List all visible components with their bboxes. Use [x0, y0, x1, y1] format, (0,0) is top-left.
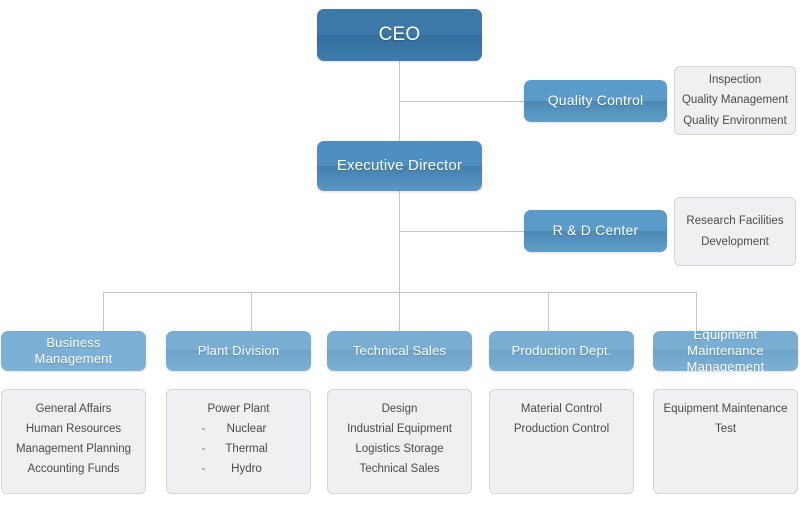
node-rd-center-label: R & D Center: [553, 222, 639, 240]
connector-exec-to-divisions: [399, 191, 400, 293]
panel-equipment-maintenance-management: Equipment Maintenance Test: [653, 389, 798, 494]
division-header-label-line2: Management: [687, 359, 765, 371]
node-executive-director-label: Executive Director: [337, 157, 462, 176]
division-header-label: Business Management: [7, 335, 140, 368]
panel-technical-sales: Design Industrial Equipment Logistics St…: [327, 389, 472, 494]
division-header-technical-sales[interactable]: Technical Sales: [327, 331, 472, 371]
panel-item: - Hydro: [173, 459, 304, 479]
panel-item: Material Control: [496, 399, 627, 419]
panel-item: Human Resources: [8, 419, 139, 439]
connector-drop-division-5: [696, 292, 697, 331]
bullet-dash: -: [202, 439, 218, 459]
panel-item: Design: [334, 399, 465, 419]
panel-subitem-label: Hydro: [218, 459, 276, 479]
node-ceo-label: CEO: [379, 23, 421, 47]
connector-to-quality-control: [399, 101, 524, 102]
panel-item: - Thermal: [173, 439, 304, 459]
connector-division-bar: [103, 292, 697, 293]
panel-subitem-label: Thermal: [218, 439, 276, 459]
division-header-plant-division[interactable]: Plant Division: [166, 331, 311, 371]
panel-item: Development: [681, 232, 789, 252]
division-header-label: Technical Sales: [353, 343, 446, 359]
division-header-production-dept[interactable]: Production Dept.: [489, 331, 634, 371]
panel-rd-center: Research Facilities Development: [674, 197, 796, 266]
panel-item: Test: [660, 419, 791, 439]
node-executive-director[interactable]: Executive Director: [317, 141, 482, 191]
bullet-dash: -: [202, 419, 218, 439]
connector-drop-division-4: [548, 292, 549, 331]
connector-drop-division-2: [251, 292, 252, 331]
panel-item: Management Planning: [8, 439, 139, 459]
panel-production-dept: Material Control Production Control: [489, 389, 634, 494]
node-ceo[interactable]: CEO: [317, 9, 482, 61]
panel-subitem-label: Nuclear: [218, 419, 276, 439]
panel-item: Research Facilities: [681, 211, 789, 231]
node-rd-center[interactable]: R & D Center: [524, 210, 667, 252]
panel-item: Industrial Equipment: [334, 419, 465, 439]
panel-quality-control: Inspection Quality Management Quality En…: [674, 66, 796, 135]
panel-item: Equipment Maintenance: [660, 399, 791, 419]
division-header-label: Equipment Maintenance: [659, 331, 792, 359]
division-header-label: Plant Division: [198, 343, 280, 359]
panel-item: Quality Environment: [681, 111, 789, 131]
node-quality-control-label: Quality Control: [548, 92, 644, 110]
panel-item: General Affairs: [8, 399, 139, 419]
bullet-dash: -: [202, 459, 218, 479]
org-chart: CEO Executive Director Quality Control R…: [0, 0, 800, 520]
connector-drop-division-1: [103, 292, 104, 331]
panel-item: Inspection: [681, 70, 789, 90]
division-header-business-management[interactable]: Business Management: [1, 331, 146, 371]
connector-drop-division-3: [399, 292, 400, 331]
panel-item: Accounting Funds: [8, 459, 139, 479]
node-quality-control[interactable]: Quality Control: [524, 80, 667, 122]
panel-item: Technical Sales: [334, 459, 465, 479]
panel-item: Power Plant: [173, 399, 304, 419]
panel-item: Production Control: [496, 419, 627, 439]
panel-item: Quality Management: [681, 90, 789, 110]
division-header-label: Production Dept.: [511, 343, 611, 359]
panel-plant-division: Power Plant - Nuclear - Thermal - Hydro: [166, 389, 311, 494]
division-header-equipment-maintenance-management[interactable]: Equipment Maintenance Management: [653, 331, 798, 371]
connector-to-rd-center: [399, 231, 524, 232]
panel-business-management: General Affairs Human Resources Manageme…: [1, 389, 146, 494]
panel-item: - Nuclear: [173, 419, 304, 439]
panel-item: Logistics Storage: [334, 439, 465, 459]
